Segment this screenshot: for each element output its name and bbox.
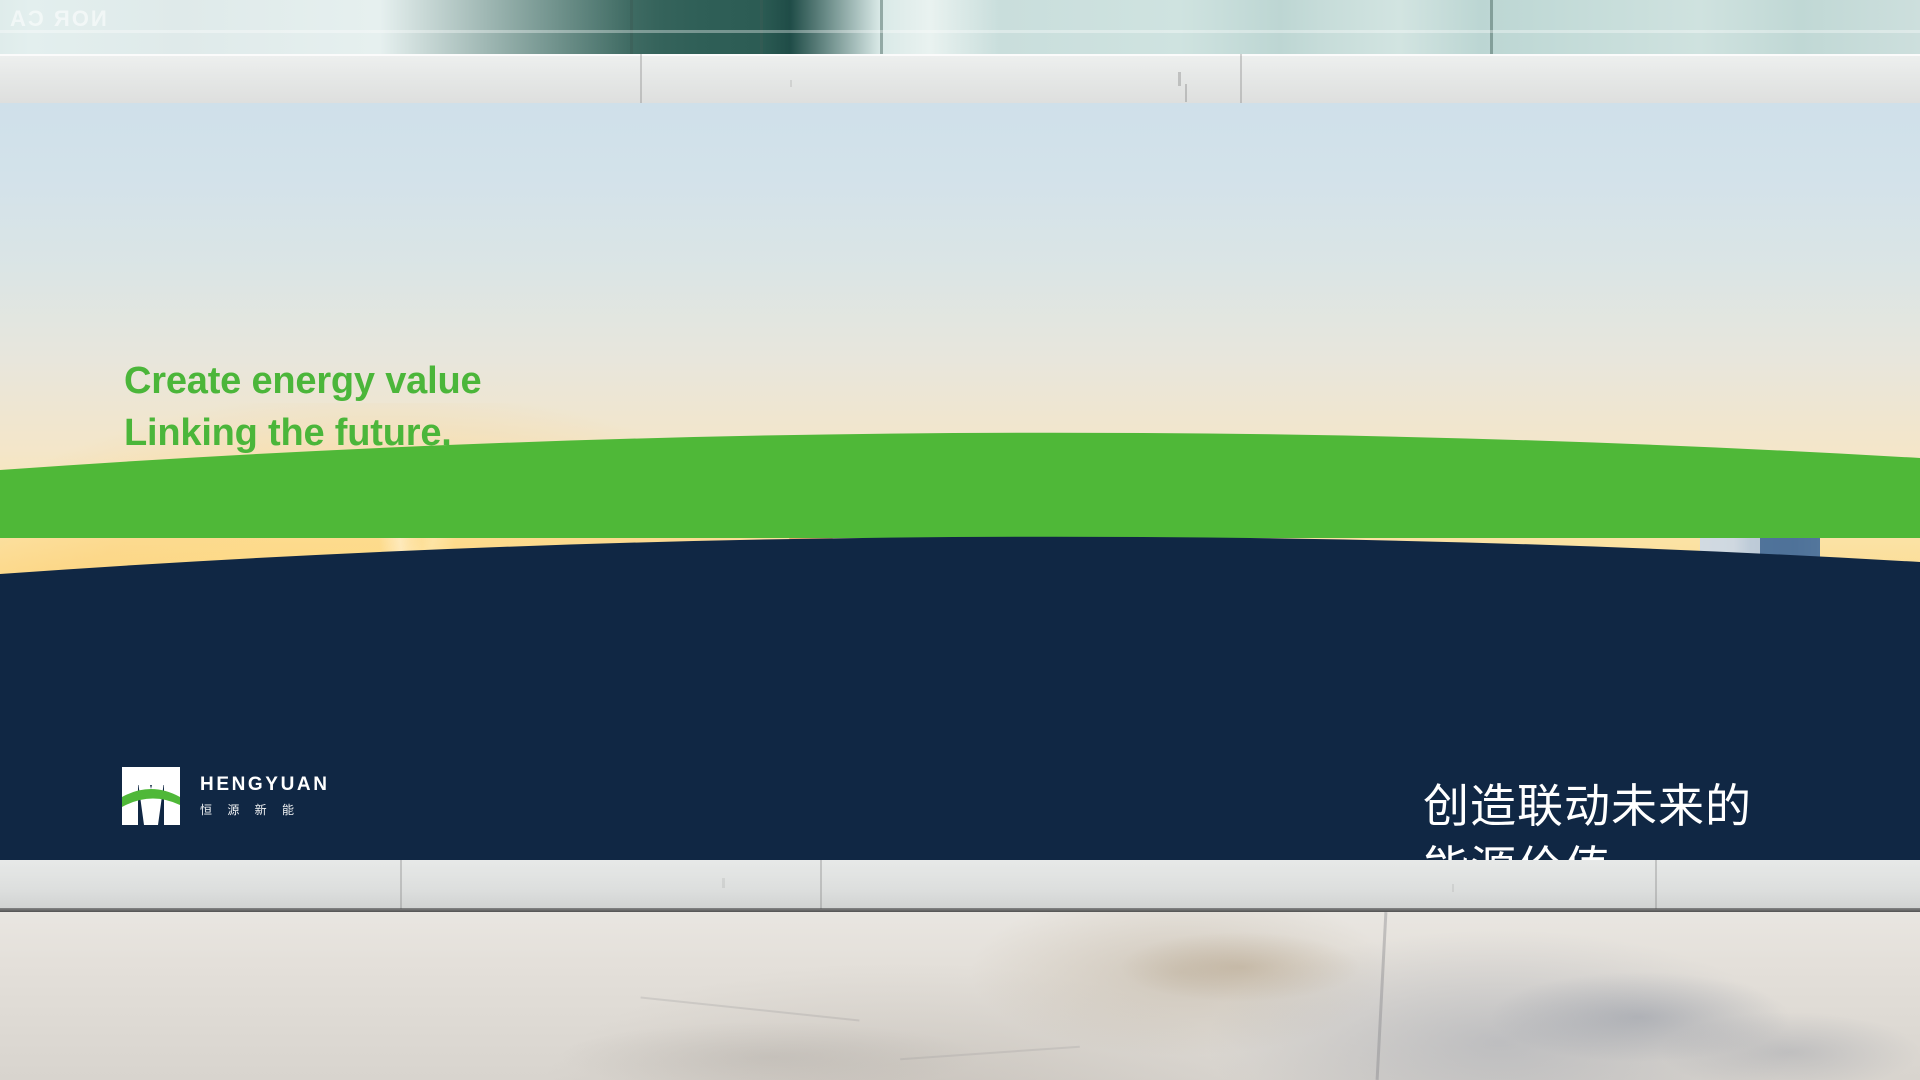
tagline-en-line1: Create energy value: [124, 355, 481, 407]
logo-name-chinese: 恒 源 新 能: [200, 801, 330, 818]
floor-seam: [1376, 912, 1388, 1080]
brand-logo-lockup: HENGYUAN 恒 源 新 能: [122, 767, 330, 825]
billboard-panel: Create energy value Linking the future. …: [0, 103, 1920, 860]
ledge-mark: [1185, 84, 1187, 102]
bottom-concrete-ledge: [0, 860, 1920, 912]
ledge-seam: [1240, 54, 1242, 103]
glass-reflection-text: NOR CA: [8, 6, 107, 32]
ledge-seam: [400, 860, 402, 909]
top-concrete-ledge: [0, 54, 1920, 103]
glass-seam: [630, 0, 633, 56]
glass-seam: [1490, 0, 1493, 56]
tagline-chinese: 创造联动未来的 能源价值: [1423, 775, 1752, 860]
floor-stain: [560, 1022, 980, 1080]
tagline-english: Create energy value Linking the future.: [124, 355, 481, 459]
floor-stain: [1120, 932, 1360, 1002]
floor-crack: [640, 997, 859, 1022]
ledge-mark: [790, 80, 792, 87]
logo-name-latin: HENGYUAN: [200, 774, 330, 796]
tagline-cn-line2: 能源价值: [1423, 837, 1752, 860]
ledge-seam: [640, 54, 642, 103]
logo-wordmark: HENGYUAN 恒 源 新 能: [200, 774, 330, 818]
glass-facade: NOR CA: [0, 0, 1920, 56]
hengyuan-m-mark-icon: [122, 767, 180, 825]
tagline-cn-line1: 创造联动未来的: [1423, 775, 1752, 837]
floor-stain: [1660, 1012, 1920, 1080]
tagline-en-line2: Linking the future.: [124, 407, 481, 459]
ledge-mark: [722, 878, 725, 888]
billboard-mockup-scene: NOR CA: [0, 0, 1920, 1080]
glass-seam: [760, 0, 763, 56]
ledge-seam: [820, 860, 822, 909]
ledge-mark: [1178, 72, 1181, 86]
ledge-seam: [1655, 860, 1657, 909]
glass-seam: [880, 0, 883, 56]
ledge-mark: [1452, 884, 1454, 892]
concrete-floor: [0, 912, 1920, 1080]
